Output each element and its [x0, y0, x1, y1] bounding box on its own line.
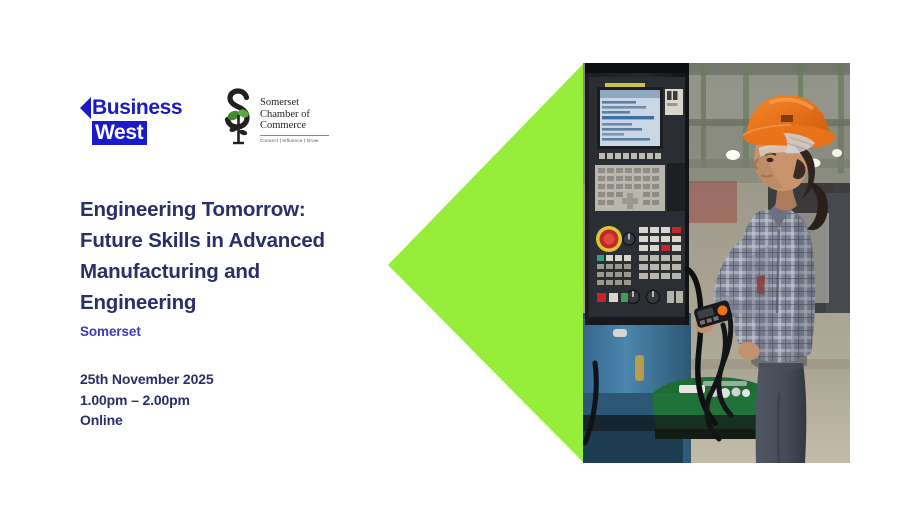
somerset-chamber-name-line1: Somerset [260, 97, 329, 109]
somerset-chamber-name-line2: Chamber of [260, 109, 329, 121]
business-west-word-business: Business [92, 97, 182, 119]
event-date: 25th November 2025 [80, 369, 213, 390]
green-left-pointing-triangle [388, 63, 584, 463]
event-promo-canvas: Business West [0, 0, 904, 528]
somerset-chamber-text: Somerset Chamber of Commerce Connect | I… [260, 88, 329, 143]
somerset-chamber-name-line3: Commerce [260, 120, 329, 132]
somerset-chamber-tagline: Connect | Influence | Grow [260, 135, 329, 143]
left-triangle-icon [80, 97, 91, 119]
cnc-machine-operator-photo [583, 63, 850, 463]
business-west-line1: Business [80, 96, 198, 120]
business-west-word-west: West [95, 121, 143, 144]
event-headline: Engineering Tomorrow: Future Skills in A… [80, 194, 380, 318]
somerset-s-plant-icon [222, 88, 256, 146]
event-details: 25th November 2025 1.00pm – 2.00pm Onlin… [80, 369, 213, 431]
logo-row: Business West [80, 88, 380, 150]
business-west-logo[interactable]: Business West [80, 96, 198, 146]
headline-line-4: Engineering [80, 287, 380, 318]
event-location: Online [80, 410, 213, 431]
headline-line-2: Future Skills in Advanced [80, 225, 380, 256]
somerset-chamber-logo[interactable]: Somerset Chamber of Commerce Connect | I… [222, 88, 332, 148]
event-region: Somerset [80, 324, 141, 339]
business-west-word-west-box: West [92, 121, 147, 145]
headline-line-1: Engineering Tomorrow: [80, 194, 380, 225]
event-time: 1.00pm – 2.00pm [80, 390, 213, 411]
headline-line-3: Manufacturing and [80, 256, 380, 287]
